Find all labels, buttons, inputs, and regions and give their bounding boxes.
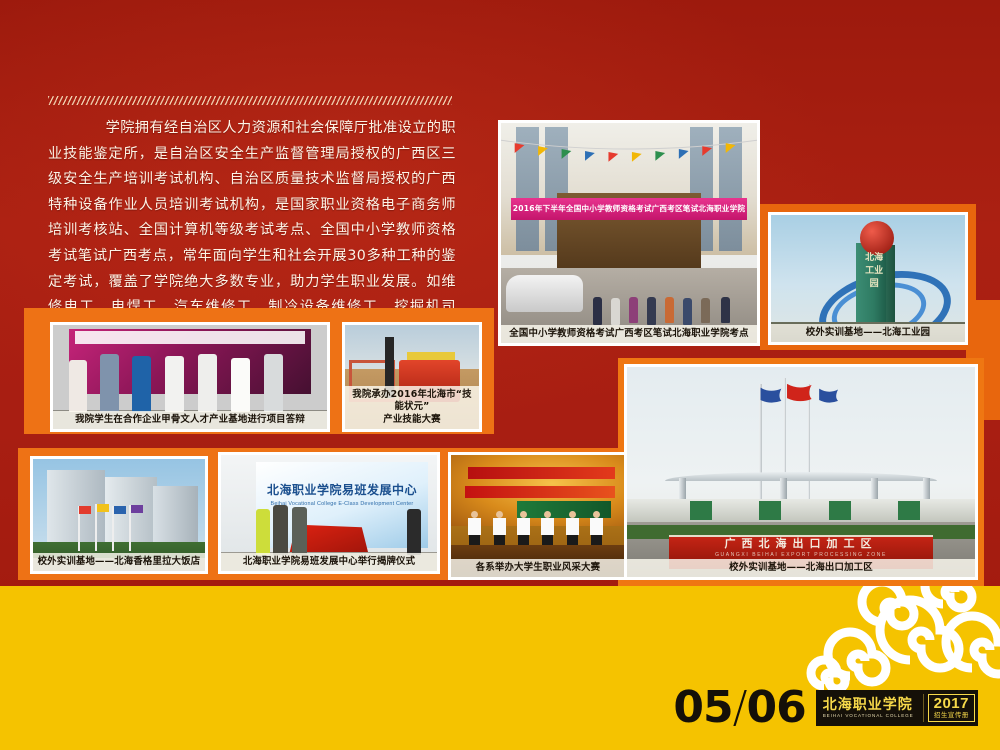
page-number-total: 06 xyxy=(746,682,805,733)
photo-career-style-contest: 各系举办大学生职业风采大赛 xyxy=(448,452,628,580)
college-logo: 北海职业学院 BEIHAI VOCATIONAL COLLEGE 2017 招生… xyxy=(816,690,978,726)
flags xyxy=(731,382,856,420)
college-name-cn: 北海职业学院 xyxy=(819,697,918,712)
caption-export-zone: 校外实训基地——北海出口加工区 xyxy=(627,559,975,577)
page-footer: 05/06 北海职业学院 BEIHAI VOCATIONAL COLLEGE 2… xyxy=(673,686,978,730)
photo-oracle-project-defense: 我院学生在合作企业甲骨文人才产业基地进行项目答辩 xyxy=(50,322,330,432)
photo-export-processing-zone: 广西北海出口加工区 GUANGXI BEIHAI EXPORT PROCESSI… xyxy=(624,364,978,580)
photo-forklift-contest: 我院承办2016年北海市“技能状元” 产业技能大赛 xyxy=(342,322,482,432)
brochure-year-badge: 2017 招生宣传册 xyxy=(928,694,975,722)
page-number-current: 05 xyxy=(673,682,732,733)
sign-text-cn: 广西北海出口加工区 xyxy=(669,537,933,552)
caption-career-style-contest: 各系举办大学生职业风采大赛 xyxy=(451,559,625,577)
caption-oracle-defense: 我院学生在合作企业甲骨文人才产业基地进行项目答辩 xyxy=(53,411,327,429)
brochure-year: 2017 xyxy=(934,696,969,711)
caption-exam-hall: 全国中小学教师资格考试广西考区笔试北海职业学院考点 xyxy=(501,325,757,343)
photo-shangri-la-hotel: 校外实训基地——北海香格里拉大饭店 xyxy=(30,456,208,574)
hatched-divider xyxy=(48,96,452,105)
caption-shangri-la: 校外实训基地——北海香格里拉大饭店 xyxy=(33,553,205,571)
college-name-en: BEIHAI VOCATIONAL COLLEGE xyxy=(819,712,918,719)
photo-industrial-park-sculpture: 北海工业园 校外实训基地——北海工业园 xyxy=(768,212,968,345)
sculpture-inscription: 北海工业园 xyxy=(862,251,886,290)
brochure-page: 学院拥有经自治区人力资源和社会保障厅批准设立的职业技能鉴定所，是自治区安全生产监… xyxy=(0,0,1000,750)
brochure-label: 招生宣传册 xyxy=(934,711,969,720)
eclass-board-title: 北海职业学院易班发展中心 xyxy=(260,481,424,498)
bunting-flags xyxy=(501,136,757,166)
exam-banner-text: 2016年下半年全国中小学教师资格考试广西考区笔试北海职业学院考点 xyxy=(511,198,747,220)
page-number-block: 05/06 xyxy=(673,686,805,730)
page-number-separator: / xyxy=(733,682,747,733)
caption-eclass-unveiling: 北海职业学院易班发展中心举行揭牌仪式 xyxy=(221,553,437,571)
photo-exam-hall: 2016年下半年全国中小学教师资格考试广西考区笔试北海职业学院考点 全国中小学教… xyxy=(498,120,760,346)
sign-text-en: GUANGXI BEIHAI EXPORT PROCESSING ZONE xyxy=(669,552,933,558)
photo-eclass-unveiling: 北海职业学院易班发展中心 Beihai Vocational College E… xyxy=(218,452,440,574)
caption-industrial-park: 校外实训基地——北海工业园 xyxy=(771,324,965,342)
caption-forklift-contest: 我院承办2016年北海市“技能状元” 产业技能大赛 xyxy=(345,386,479,429)
